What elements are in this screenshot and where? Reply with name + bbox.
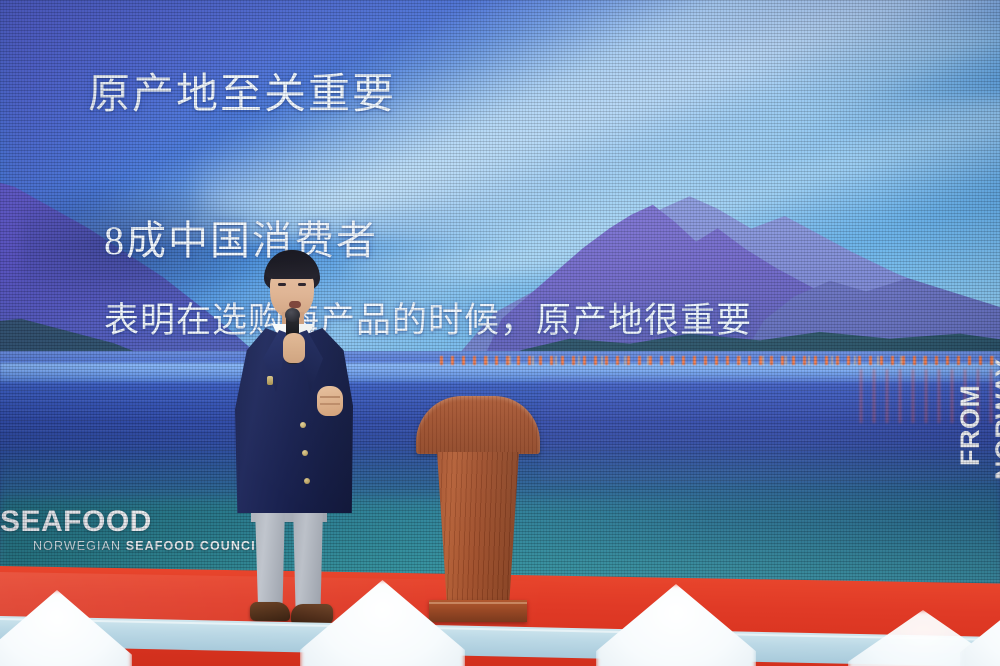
seafood-from-norway-wordmark: SEAFOOD <box>0 505 152 539</box>
speaker-shoe-right <box>291 604 333 624</box>
speaker-hand-holding-microphone <box>283 333 305 363</box>
speaker-fist-crease-2 <box>320 403 340 405</box>
speaker-trouser-right <box>293 505 325 610</box>
speaker-blazer-button-1 <box>300 422 306 428</box>
speaker-blazer-button-3 <box>304 478 310 484</box>
slide-title: 原产地至关重要 <box>88 60 396 121</box>
speaker-eye-right <box>298 283 306 286</box>
speaker-blazer-button-2 <box>302 450 308 456</box>
conference-stage-scene: 原产地至关重要 8成中国消费者 表明在选购海产品的时候，原产地很重要 NORWE… <box>0 0 1000 666</box>
speaker-gesturing-fist <box>317 386 343 416</box>
speaker-eye-left <box>278 283 286 286</box>
council-logo-light-word: NORWEGIAN <box>33 539 121 553</box>
speaker-lapel-pin <box>267 376 273 385</box>
podium-lectern <box>416 396 540 622</box>
seafood-from-norway-from-vertical: FROM <box>955 385 986 466</box>
speaker-hair-fringe <box>265 261 319 279</box>
speaker-trouser-left <box>253 505 285 610</box>
podium-top-panel <box>416 396 540 454</box>
podium-base-trim <box>429 602 527 604</box>
speaker-presenter <box>225 250 360 625</box>
seafood-from-norway-norway-vertical: NORWAY <box>990 358 1000 480</box>
podium-top-woodgrain <box>416 396 540 454</box>
microphone-head <box>285 308 300 322</box>
speaker-mouth <box>289 301 301 308</box>
slide-body-line: 表明在选购海产品的时候，原产地很重要 <box>104 292 752 343</box>
podium-column-woodgrain <box>437 452 519 604</box>
speaker-fist-crease-1 <box>320 396 340 398</box>
speaker-shoe-left <box>250 602 290 621</box>
